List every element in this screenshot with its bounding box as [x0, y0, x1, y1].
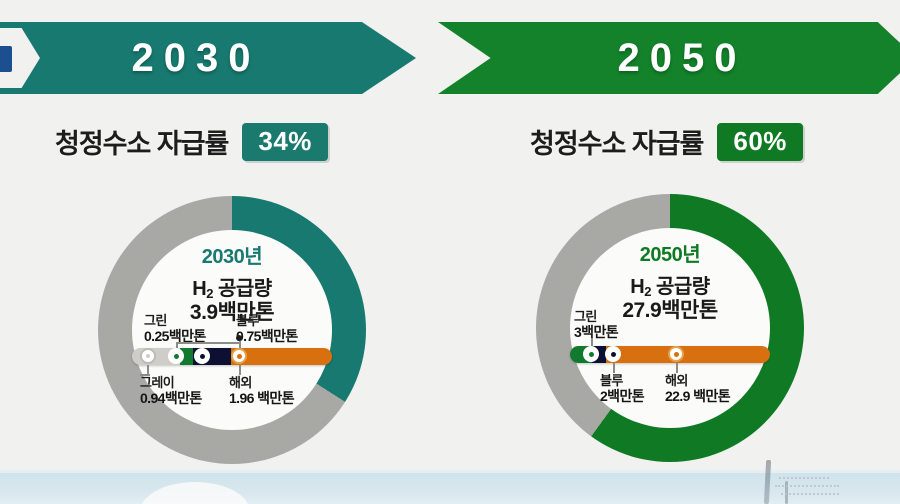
self-sufficiency-label-2030: 청정수소 자급률 — [55, 122, 228, 161]
bar-dot-green-2030 — [168, 348, 184, 364]
banner-2030: 2030 — [0, 22, 416, 94]
bar-dot-gray-2030 — [140, 348, 156, 364]
bar-dot-orange-2050 — [668, 346, 684, 362]
donut-year-2050: 2050년 — [640, 244, 700, 266]
caption-overseas-2050: 해외 22.9 백만톤 — [665, 374, 730, 404]
bar-dot-green-2050 — [583, 346, 599, 362]
stacked-bar-block-2050: 그린 3백만톤 블루 2백만톤 — [570, 346, 770, 363]
donut-year-2030: 2030년 — [202, 246, 262, 268]
banner-year-2030: 2030 — [122, 36, 261, 81]
leader-green-h-2030 — [176, 342, 240, 344]
caption-blue-2050: 블루 2백만톤 — [600, 374, 644, 404]
wind-turbine-icon — [745, 455, 885, 504]
turbine-mast — [764, 460, 771, 504]
stacked-bar-block-2030: 그린 0.25백만톤 블루 0.75백만톤 — [132, 348, 332, 365]
self-sufficiency-badge-2030: 34% — [242, 123, 328, 161]
bar-segment-orange-2050 — [606, 346, 770, 363]
supply-label-2030: H2 공급량 — [192, 272, 271, 301]
donut-chart-2050: 2050년 H2 공급량 27.9백만톤 그린 3백만톤 — [536, 194, 804, 462]
donut-chart-2030: 2030년 H2 공급량 3.9백만톤 그린 0.25백만톤 블루 0.75백만… — [98, 196, 366, 464]
wave-line — [781, 493, 839, 498]
subtitle-row-2050: 청정수소 자급률 60% — [530, 122, 803, 161]
bar-dot-orange-2030 — [231, 348, 247, 364]
infographic-stage: 2030 2050 청정수소 자급률 34% 청정수소 자급률 60% 2030… — [0, 0, 900, 504]
leader-blue-2050 — [613, 363, 615, 373]
leader-blue-dot-2030 — [236, 335, 242, 341]
subtitle-row-2030: 청정수소 자급률 34% — [55, 122, 328, 161]
caption-green-2050: 그린 3백만톤 — [574, 310, 618, 340]
donut-content-2050: 2050년 H2 공급량 27.9백만톤 그린 3백만톤 — [570, 228, 770, 428]
h2-subscript: 2 — [644, 284, 651, 299]
donut-content-2030: 2030년 H2 공급량 3.9백만톤 그린 0.25백만톤 블루 0.75백만… — [132, 230, 332, 430]
wave-line — [775, 485, 839, 490]
supply-label-2050: H2 공급량 — [630, 270, 709, 299]
self-sufficiency-label-2050: 청정수소 자급률 — [530, 122, 703, 161]
caption-gray-2030: 그레이 0.94백만톤 — [140, 376, 202, 406]
caption-blue-2030: 블루 0.75백만톤 — [236, 314, 298, 344]
supply-word: 공급량 — [213, 278, 272, 300]
caption-overseas-2030: 해외 1.96 백만톤 — [229, 376, 294, 406]
h2-symbol: H — [192, 278, 206, 300]
leader-overseas-2030 — [239, 365, 241, 375]
self-sufficiency-badge-2050: 60% — [717, 123, 803, 161]
supply-value-2050: 27.9백만톤 — [622, 299, 717, 323]
banner-2050: 2050 — [438, 22, 900, 94]
banner-year-2050: 2050 — [608, 36, 747, 81]
caption-green-2030: 그린 0.25백만톤 — [144, 314, 206, 344]
wave-line — [779, 477, 829, 482]
previous-arrow-sliver — [0, 46, 12, 72]
h2-subscript: 2 — [206, 286, 213, 301]
h2-symbol: H — [630, 276, 644, 298]
leader-overseas-2050 — [676, 363, 678, 373]
bar-dot-navy-2050 — [605, 346, 621, 362]
bar-dot-navy-2030 — [194, 348, 210, 364]
supply-word: 공급량 — [651, 276, 710, 298]
